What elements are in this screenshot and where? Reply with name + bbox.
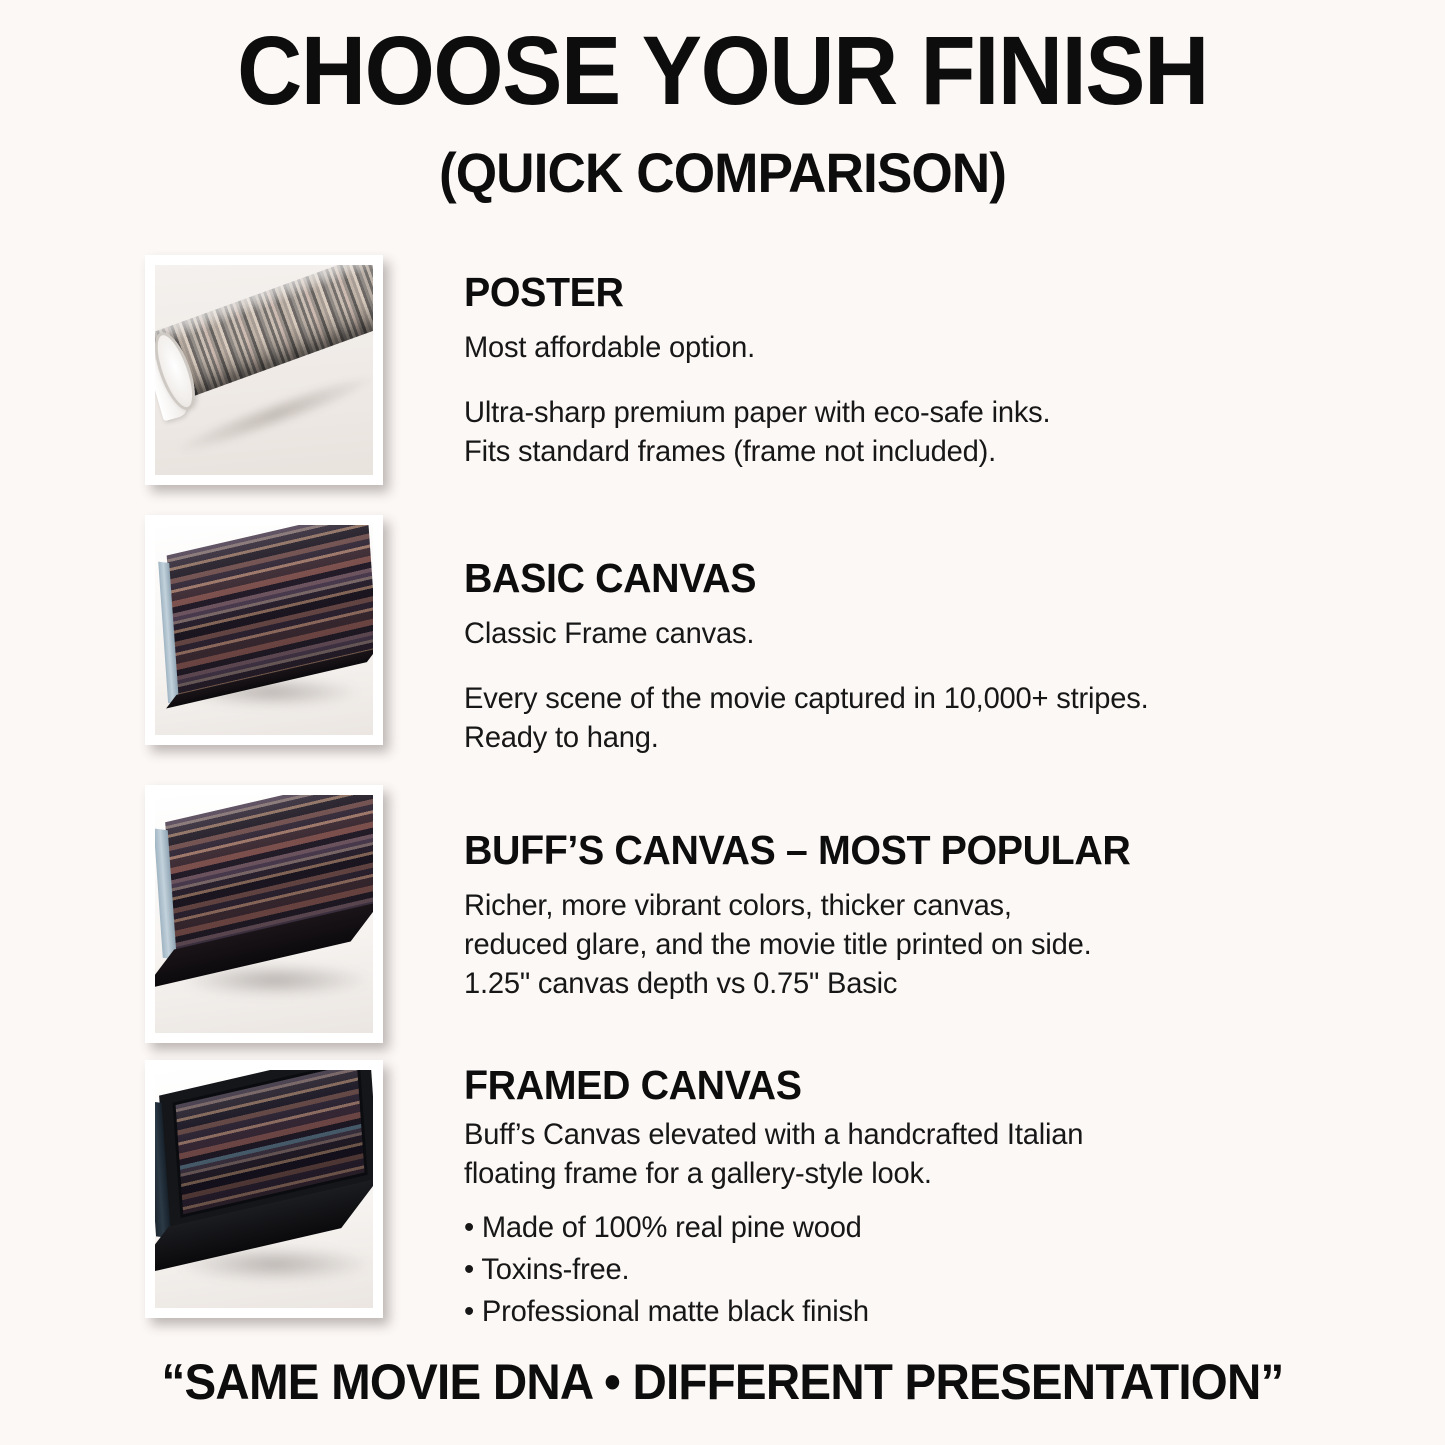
framed-canvas-text-block: FRAMED CANVAS Buff’s Canvas elevated wit… [464, 1064, 1234, 1333]
buffs-canvas-detail-2: reduced glare, and the movie title print… [464, 925, 1211, 964]
framed-canvas-heading: FRAMED CANVAS [464, 1064, 1203, 1107]
poster-image [155, 265, 373, 475]
poster-detail-1: Ultra-sharp premium paper with eco-safe … [464, 393, 1211, 432]
framed-canvas-thumbnail[interactable] [145, 1060, 383, 1318]
basic-canvas-text-block: BASIC CANVAS Classic Frame canvas. Every… [464, 557, 1234, 757]
poster-detail-2: Fits standard frames (frame not included… [464, 432, 1211, 471]
basic-canvas-image [155, 525, 373, 735]
basic-canvas-detail-1: Every scene of the movie captured in 10,… [464, 679, 1211, 718]
basic-canvas-lead: Classic Frame canvas. [464, 614, 1211, 653]
list-item: • Made of 100% real pine wood [464, 1207, 1211, 1249]
header: CHOOSE YOUR FINISH (QUICK COMPARISON) [0, 0, 1445, 201]
footer-tagline: “SAME MOVIE DNA • DIFFERENT PRESENTATION… [36, 1353, 1409, 1411]
framed-canvas-bullet-list: • Made of 100% real pine wood • Toxins-f… [464, 1207, 1234, 1333]
infographic-page: CHOOSE YOUR FINISH (QUICK COMPARISON) PO… [0, 0, 1445, 1445]
rolled-poster-artwork [155, 265, 373, 475]
footer: “SAME MOVIE DNA • DIFFERENT PRESENTATION… [0, 1353, 1445, 1411]
buffs-canvas-detail-1: Richer, more vibrant colors, thicker can… [464, 886, 1211, 925]
framed-canvas-artwork [155, 1070, 373, 1308]
list-item: • Professional matte black finish [464, 1291, 1211, 1333]
page-subtitle: (QUICK COMPARISON) [36, 145, 1409, 201]
basic-canvas-heading: BASIC CANVAS [464, 557, 1203, 600]
framed-canvas-detail-1: Buff’s Canvas elevated with a handcrafte… [464, 1115, 1211, 1154]
buffs-canvas-thumbnail[interactable] [145, 785, 383, 1043]
buffs-canvas-text-block: BUFF’S CANVAS – MOST POPULAR Richer, mor… [464, 829, 1234, 1003]
poster-text-block: POSTER Most affordable option. Ultra-sha… [464, 271, 1234, 471]
basic-canvas-detail-2: Ready to hang. [464, 718, 1211, 757]
poster-lead: Most affordable option. [464, 328, 1211, 367]
basic-canvas-thumbnail[interactable] [145, 515, 383, 745]
buffs-canvas-artwork [155, 795, 373, 1033]
list-item: • Toxins-free. [464, 1249, 1211, 1291]
basic-canvas-artwork [155, 525, 373, 735]
framed-canvas-image [155, 1070, 373, 1308]
page-title: CHOOSE YOUR FINISH [51, 22, 1395, 119]
poster-heading: POSTER [464, 271, 1203, 314]
buffs-canvas-image [155, 795, 373, 1033]
framed-canvas-detail-2: floating frame for a gallery-style look. [464, 1154, 1211, 1193]
buffs-canvas-detail-3: 1.25" canvas depth vs 0.75" Basic [464, 964, 1211, 1003]
buffs-canvas-heading: BUFF’S CANVAS – MOST POPULAR [464, 829, 1203, 872]
poster-thumbnail[interactable] [145, 255, 383, 485]
